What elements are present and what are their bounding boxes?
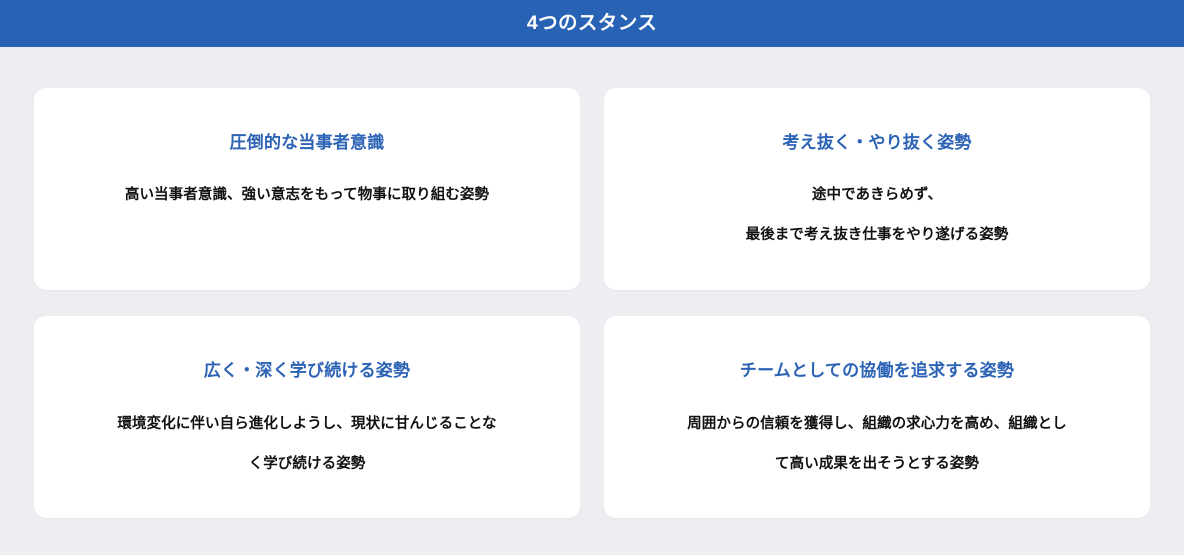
stance-card: 広く・深く学び続ける姿勢 環境変化に伴い自ら進化しようし、現状に甘んじることな … [34, 316, 580, 518]
stance-card: 考え抜く・やり抜く姿勢 途中であきらめず、 最後まで考え抜き仕事をやり遂げる姿勢 [604, 88, 1150, 290]
stance-slide: 4つのスタンス 圧倒的な当事者意識 高い当事者意識、強い意志をもって物事に取り組… [0, 0, 1184, 555]
slide-title: 4つのスタンス [527, 14, 657, 34]
slide-header-band: 4つのスタンス [0, 0, 1184, 47]
stance-card: 圧倒的な当事者意識 高い当事者意識、強い意志をもって物事に取り組む姿勢 [34, 88, 580, 290]
stance-card-body: 環境変化に伴い自ら進化しようし、現状に甘んじることな く学び続ける姿勢 [56, 404, 558, 484]
stance-card-body-line: 高い当事者意識、強い意志をもって物事に取り組む姿勢 [74, 175, 540, 215]
stance-card-body-line: 途中であきらめず、 [638, 175, 1116, 215]
stance-card-body-line: く学び続ける姿勢 [68, 444, 546, 484]
stance-card-title: 考え抜く・やり抜く姿勢 [626, 132, 1128, 155]
stance-card: チームとしての協働を追求する姿勢 周囲からの信頼を獲得し、組織の求心力を高め、組… [604, 316, 1150, 518]
stance-card-title: 圧倒的な当事者意識 [56, 132, 558, 155]
stance-card-title: 広く・深く学び続ける姿勢 [56, 360, 558, 383]
stance-card-body-line: 環境変化に伴い自ら進化しようし、現状に甘んじることな [68, 404, 546, 444]
stance-card-body: 高い当事者意識、強い意志をもって物事に取り組む姿勢 [56, 175, 558, 215]
stance-card-title: チームとしての協働を追求する姿勢 [626, 360, 1128, 383]
stance-card-body: 途中であきらめず、 最後まで考え抜き仕事をやり遂げる姿勢 [626, 175, 1128, 255]
stance-card-body-line: 最後まで考え抜き仕事をやり遂げる姿勢 [638, 215, 1116, 255]
stance-card-body: 周囲からの信頼を獲得し、組織の求心力を高め、組織とし て高い成果を出そうとする姿… [626, 404, 1128, 484]
stance-card-body-line: 周囲からの信頼を獲得し、組織の求心力を高め、組織とし [638, 404, 1116, 444]
stance-card-grid: 圧倒的な当事者意識 高い当事者意識、強い意志をもって物事に取り組む姿勢 考え抜く… [34, 88, 1150, 518]
stance-card-body-line: て高い成果を出そうとする姿勢 [638, 444, 1116, 484]
